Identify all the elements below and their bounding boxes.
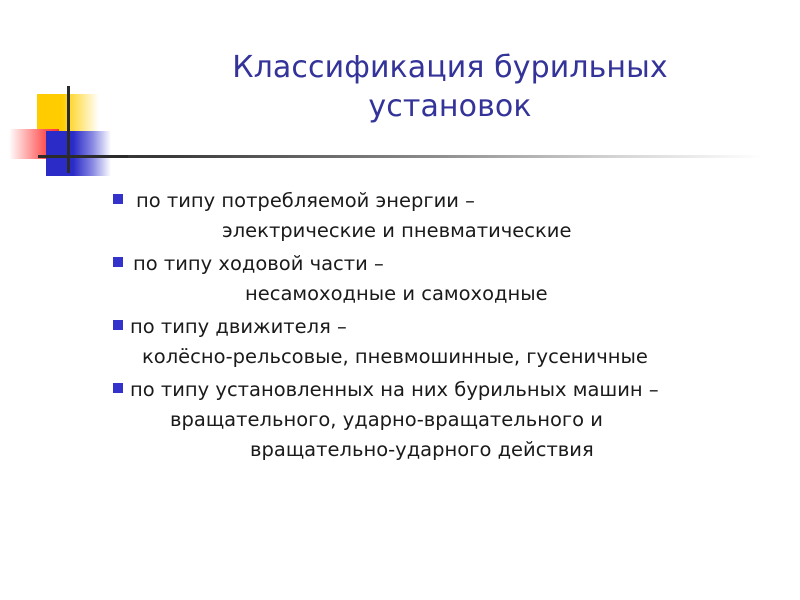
slide-canvas: Классификация бурильных установок по тип… <box>0 0 800 600</box>
decor-rule-horizontal <box>38 155 128 158</box>
decor-square-red <box>9 129 59 159</box>
square-bullet-icon <box>113 257 123 267</box>
decor-square-blue <box>46 131 111 176</box>
title-divider-rule <box>38 155 763 158</box>
page-title-line-2: установок <box>150 87 750 126</box>
list-item-continuation: вращательного, ударно-вращательного и <box>0 405 800 435</box>
page-title: Классификация бурильных установок <box>150 48 750 126</box>
decor-square-yellow <box>37 94 99 132</box>
list-item: по типу потребляемой энергии – электриче… <box>0 186 800 246</box>
square-bullet-icon <box>113 194 123 204</box>
list-item-continuation: несамоходные и самоходные <box>0 279 800 309</box>
square-bullet-icon <box>113 383 123 393</box>
bullet-list: по типу потребляемой энергии – электриче… <box>0 186 800 468</box>
list-item-continuation: электрические и пневматические <box>0 216 800 246</box>
page-title-line-1: Классификация бурильных <box>150 48 750 87</box>
decor-rule-vertical <box>67 86 70 173</box>
list-item: по типу движителя – колёсно-рельсовые, п… <box>0 312 800 372</box>
list-item: по типу установленных на них бурильных м… <box>0 375 800 465</box>
list-item-continuation: вращательно-ударного действия <box>0 435 800 465</box>
list-item-continuation: колёсно-рельсовые, пневмошинные, гусенич… <box>0 342 800 372</box>
square-bullet-icon <box>113 320 123 330</box>
list-item: по типу ходовой части – несамоходные и с… <box>0 249 800 309</box>
